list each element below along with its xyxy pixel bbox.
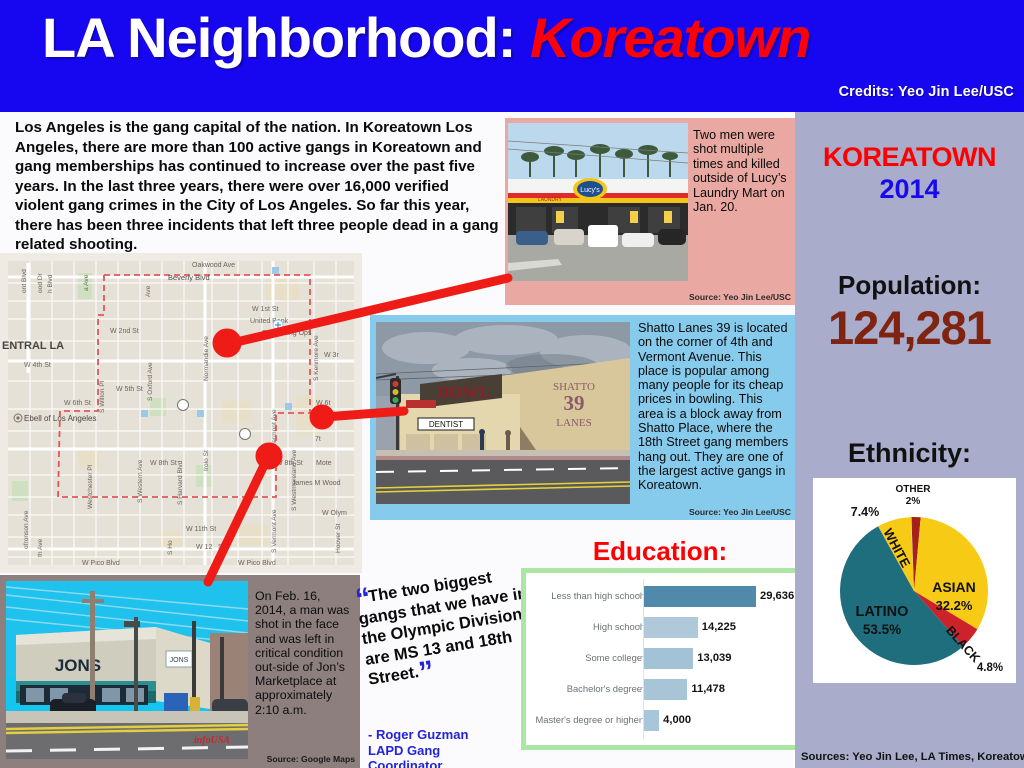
jons-marketplace-panel: JONS JONS xyxy=(0,575,360,768)
ethnicity-pie-chart[interactable]: OTHER2%7.4%WHITEASIAN32.2%LATINO53.5%BLA… xyxy=(813,478,1016,683)
koreatown-year: 2014 xyxy=(795,174,1024,205)
pie-label: 7.4% xyxy=(851,505,880,519)
pie-label: ASIAN xyxy=(932,579,976,595)
svg-text:S Wilton Pl: S Wilton Pl xyxy=(99,380,106,413)
pie-label: 32.2% xyxy=(936,598,973,613)
education-bar-row: Some college13,039 xyxy=(526,645,797,671)
quote-attrib-name: - Roger Guzman xyxy=(368,727,518,743)
svg-text:LANES: LANES xyxy=(556,417,591,429)
svg-text:S Ho: S Ho xyxy=(167,540,174,555)
svg-text:39: 39 xyxy=(564,391,585,415)
education-bar-value: 29,636 xyxy=(760,583,794,609)
jons-marketplace-caption: On Feb. 16, 2014, a man was shot in the … xyxy=(255,589,351,717)
svg-text:S Vermont Ave: S Vermont Ave xyxy=(271,409,278,453)
svg-text:W 4th St: W 4th St xyxy=(24,362,51,369)
svg-text:Ebell of Los Angeles: Ebell of Los Angeles xyxy=(24,414,97,423)
population-value: 124,281 xyxy=(795,300,1024,355)
svg-text:LAUNDRY: LAUNDRY xyxy=(538,197,562,203)
svg-text:Westchester Pl: Westchester Pl xyxy=(87,464,94,509)
education-bar xyxy=(644,586,756,607)
svg-text:W 2nd St: W 2nd St xyxy=(110,328,139,335)
svg-text:W 8th St: W 8th St xyxy=(150,460,177,467)
svg-text:Irolo St: Irolo St xyxy=(203,450,210,471)
education-axis-tick xyxy=(639,656,643,657)
svg-text:Oakwood Ave: Oakwood Ave xyxy=(192,262,235,269)
education-bar-category: Some college xyxy=(530,645,642,671)
pull-quote-attribution: - Roger Guzman LAPD Gang Coordinator xyxy=(368,727,518,768)
pie-label: 2% xyxy=(906,496,921,507)
svg-text:Processing Ops: Processing Ops xyxy=(262,330,312,337)
page-title-accent: Koreatown xyxy=(530,6,810,69)
svg-text:W 6t: W 6t xyxy=(316,400,330,407)
shatto-lanes-photo: BOWL SHATTO 39 LANES DENTIST xyxy=(376,322,630,504)
education-bar-value: 13,039 xyxy=(697,645,731,671)
education-bar-category: Bachelor's degree xyxy=(530,676,642,702)
quote-attrib-title: LAPD Gang Coordinator xyxy=(368,743,518,768)
education-bar-category: High school xyxy=(530,614,642,640)
infographic-poster: LA Neighborhood: Koreatown Credits: Yeo … xyxy=(0,0,1024,768)
svg-text:a Ave: a Ave xyxy=(83,274,90,291)
svg-text:Lucy's: Lucy's xyxy=(580,187,600,194)
svg-text:Beverly Blvd: Beverly Blvd xyxy=(168,273,210,282)
ethnicity-pie-svg: OTHER2%7.4%WHITEASIAN32.2%LATINO53.5%BLA… xyxy=(813,478,1016,683)
education-axis-tick xyxy=(639,594,643,595)
education-title: Education: xyxy=(515,536,805,567)
page-title: LA Neighborhood: Koreatown xyxy=(42,5,810,70)
svg-text:W 12: W 12 xyxy=(196,544,212,551)
svg-text:S Vermont Ave: S Vermont Ave xyxy=(271,509,278,553)
education-bar-value: 4,000 xyxy=(663,707,691,733)
lucy-laundry-photo: Lucy's LAUNDRY xyxy=(508,123,688,281)
svg-text:ENTRAL LA: ENTRAL LA xyxy=(2,340,64,352)
education-bar-value: 11,478 xyxy=(691,676,725,702)
education-bar-row: Master's degree or higher4,000 xyxy=(526,707,797,733)
education-bar xyxy=(644,679,687,700)
population-label: Population: xyxy=(795,270,1024,301)
svg-text:S Westmoreland Ave: S Westmoreland Ave xyxy=(291,449,298,511)
map-svg: Oakwood Ave Beverly Blvd W 1st St United… xyxy=(0,253,362,573)
credits-label: Credits: Yeo Jin Lee/USC xyxy=(839,84,1014,100)
svg-text:Mote: Mote xyxy=(316,460,332,467)
pie-label: LATINO xyxy=(856,604,909,620)
education-bar-row: High school14,225 xyxy=(526,614,797,640)
quote-close-mark: ” xyxy=(416,655,434,690)
pull-quote-panel: “The two biggest gangs that we have in t… xyxy=(360,575,515,768)
lucy-laundry-source: Source: Yeo Jin Lee/USC xyxy=(689,292,791,302)
education-axis-tick xyxy=(639,625,643,626)
svg-text:Hoover St: Hoover St xyxy=(335,524,342,553)
svg-text:JONS: JONS xyxy=(170,657,189,664)
education-chart[interactable]: Less than high school29,636High school14… xyxy=(521,568,802,750)
svg-text:th Ave: th Ave xyxy=(37,538,44,557)
svg-text:W Olym: W Olym xyxy=(322,510,347,517)
svg-text:h Blvd: h Blvd xyxy=(47,274,54,293)
svg-text:W 5th St: W 5th St xyxy=(116,386,143,393)
svg-text:Ave: Ave xyxy=(145,285,152,297)
education-bar xyxy=(644,648,693,669)
education-bar-category: Less than high school xyxy=(530,583,642,609)
jons-marketplace-photo: JONS JONS xyxy=(6,581,248,759)
shatto-lanes-caption: Shatto Lanes 39 is located on the corner… xyxy=(638,321,790,493)
svg-text:ofronson Ave: ofronson Ave xyxy=(23,510,30,549)
svg-text:ood Dr: ood Dr xyxy=(37,272,44,293)
education-bar-row: Bachelor's degree11,478 xyxy=(526,676,797,702)
pull-quote-body: The two biggest gangs that we have in th… xyxy=(357,568,528,688)
svg-text:W 3r: W 3r xyxy=(324,352,339,359)
pie-label: 4.8% xyxy=(977,662,1003,674)
svg-text:S Western Ave: S Western Ave xyxy=(137,459,144,503)
svg-text:S Oxford Ave: S Oxford Ave xyxy=(147,362,154,401)
infousa-watermark: infoUSA xyxy=(194,735,230,746)
svg-text:W 6th St: W 6th St xyxy=(64,400,91,407)
lucy-laundry-panel: Lucy's LAUNDRY xyxy=(505,118,795,305)
sources-label: Sources: Yeo Jin Lee, LA Times, Koreatow… xyxy=(801,751,1023,763)
svg-text:James M Wood: James M Wood xyxy=(292,480,341,487)
svg-text:7t: 7t xyxy=(315,436,321,443)
svg-text:W 8th St: W 8th St xyxy=(276,460,303,467)
svg-text:W 11th St: W 11th St xyxy=(186,526,216,533)
koreatown-map[interactable]: Oakwood Ave Beverly Blvd W 1st St United… xyxy=(0,253,362,573)
education-bar xyxy=(644,710,659,731)
svg-text:W Pico Blvd: W Pico Blvd xyxy=(82,560,120,567)
jons-marketplace-source: Source: Google Maps xyxy=(267,754,355,764)
page-title-main: LA Neighborhood: xyxy=(42,6,530,69)
shatto-lanes-source: Source: Yeo Jin Lee/USC xyxy=(689,507,791,517)
svg-text:Normandie Ave: Normandie Ave xyxy=(203,336,210,381)
svg-text:W Pico Blvd: W Pico Blvd xyxy=(238,560,276,567)
svg-text:St: St xyxy=(218,544,225,551)
pie-label: 53.5% xyxy=(863,622,901,637)
lucy-laundry-caption: Two men were shot multiple times and kil… xyxy=(693,128,791,214)
svg-text:S Kenmore Ave: S Kenmore Ave xyxy=(313,335,320,381)
ethnicity-label: Ethnicity: xyxy=(795,438,1024,469)
svg-text:W 1st St: W 1st St xyxy=(252,306,279,313)
education-axis-tick xyxy=(639,718,643,719)
svg-text:DENTIST: DENTIST xyxy=(429,420,463,429)
shatto-lanes-panel: BOWL SHATTO 39 LANES DENTIST xyxy=(370,315,795,520)
intro-paragraph: Los Angeles is the gang capital of the n… xyxy=(15,118,500,255)
stats-sidebar: KOREATOWN 2014 Population: 124,281 Ethni… xyxy=(795,112,1024,768)
pie-label: OTHER xyxy=(896,484,932,495)
education-axis-tick xyxy=(639,687,643,688)
education-bar-category: Master's degree or higher xyxy=(530,707,642,733)
koreatown-heading: KOREATOWN xyxy=(795,142,1024,173)
education-bar-value: 14,225 xyxy=(702,614,736,640)
education-bar-row: Less than high school29,636 xyxy=(526,583,797,609)
svg-text:S Harvard Blvd: S Harvard Blvd xyxy=(177,460,184,505)
education-bar xyxy=(644,617,698,638)
svg-text:ont Blvd: ont Blvd xyxy=(21,269,28,293)
svg-text:BOWL: BOWL xyxy=(438,383,491,402)
education-chart-plot: Less than high school29,636High school14… xyxy=(526,573,797,745)
